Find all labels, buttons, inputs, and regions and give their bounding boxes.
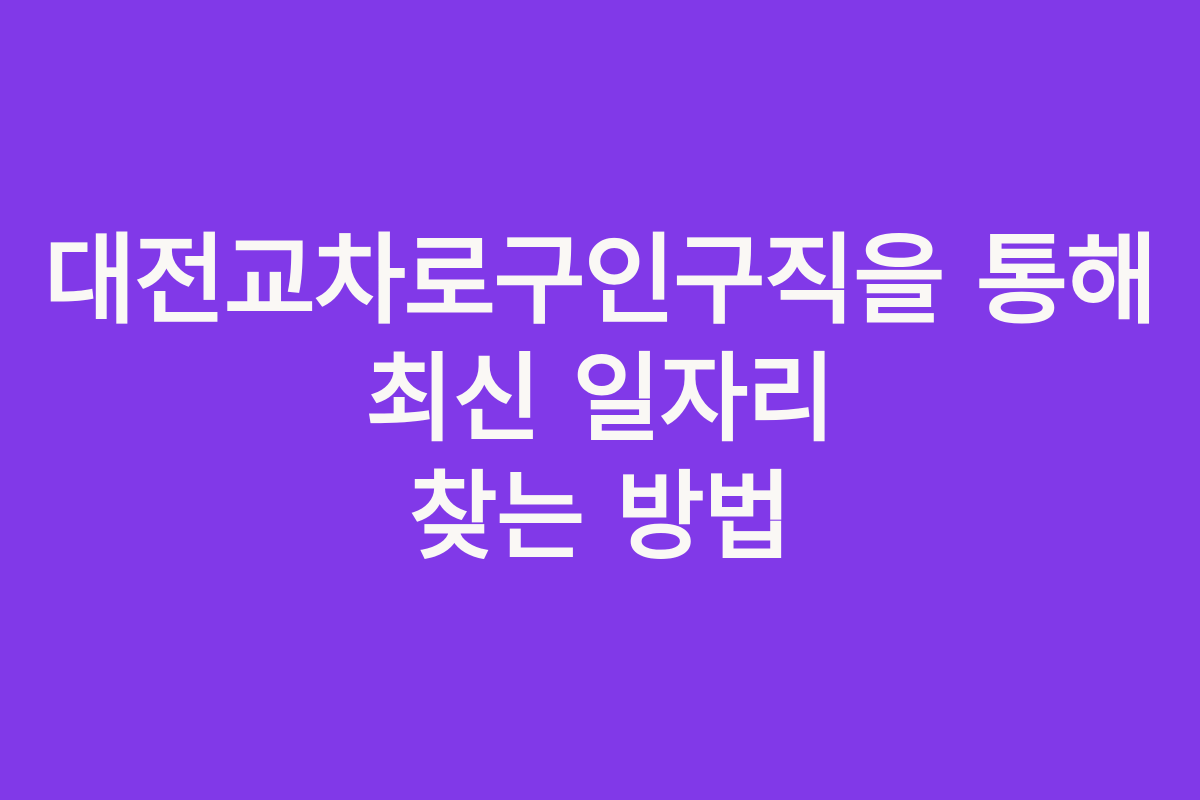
headline-line-1: 대전교차로구인구직을 통해 [0, 222, 1200, 340]
thumbnail-card: 대전교차로구인구직을 통해 최신 일자리 찾는 방법 [0, 0, 1200, 800]
headline-line-2: 최신 일자리 [0, 340, 1200, 458]
headline-line-3: 찾는 방법 [0, 458, 1200, 576]
headline-block: 대전교차로구인구직을 통해 최신 일자리 찾는 방법 [0, 222, 1200, 576]
